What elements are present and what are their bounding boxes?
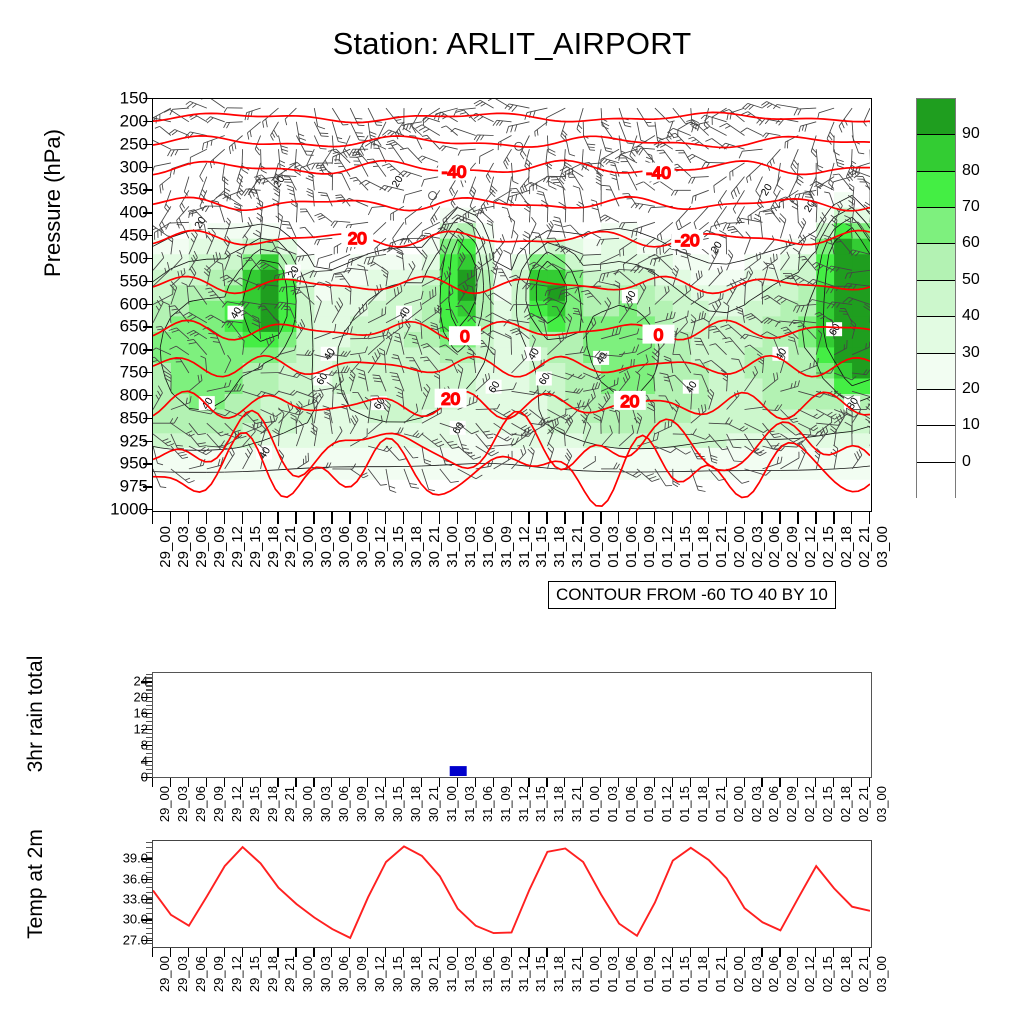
colorbar-label: 50 [962, 271, 980, 289]
rain-xtick-label: 31_21 [569, 786, 584, 822]
rain-xtick-label: 03_00 [874, 786, 889, 822]
rain-xaxis-ticklabels: 29_0029_0329_0629_0929_1229_1529_1829_21… [152, 784, 872, 840]
main-xtick-label: 31_09 [498, 526, 515, 568]
time-height-cross-section-plot[interactable]: 2020202040404040404040606060202060604060… [152, 98, 872, 512]
main-xtick [511, 512, 512, 524]
main-xaxis-ticklabels: 29_0029_0329_0629_0929_1229_1529_1829_21… [152, 524, 872, 584]
temp-xtick-label: 01_03 [605, 956, 620, 992]
rain-xtick-label: 29_00 [157, 786, 172, 822]
rh-colorbar-labels: 9080706050403020100 [962, 98, 1022, 498]
temp-xtick-label: 30_21 [426, 956, 441, 992]
temp-xtick-label: 02_00 [731, 956, 746, 992]
colorbar-segment[interactable] [917, 172, 955, 208]
main-xtick [457, 512, 458, 524]
main-xtick [260, 512, 261, 524]
main-xtick [152, 512, 153, 524]
rain-yaxis-tickmarks [140, 672, 152, 778]
temp-xtick-label: 01_15 [677, 956, 692, 992]
temp-xtick-label: 30_06 [336, 956, 351, 992]
main-ytick [143, 441, 152, 442]
temp-xtick-label: 31_00 [444, 956, 459, 992]
main-xtick-label: 31_03 [462, 526, 479, 568]
contour-note: CONTOUR FROM -60 TO 40 BY 10 [548, 581, 836, 609]
main-xtick [618, 512, 619, 524]
main-xtick [600, 512, 601, 524]
rain-xtick-label: 01_21 [713, 786, 728, 822]
svg-text:20: 20 [348, 229, 367, 248]
rain-xtick-label: 02_18 [838, 786, 853, 822]
colorbar-label: 10 [962, 416, 980, 434]
main-xtick [385, 512, 386, 524]
main-xtick-label: 30_03 [318, 526, 335, 568]
main-xtick-label: 31_12 [516, 526, 533, 568]
rain-xtick-label: 01_12 [659, 786, 674, 822]
colorbar-segment[interactable] [917, 281, 955, 317]
main-xtick [206, 512, 207, 524]
main-xtick-label: 02_18 [838, 526, 855, 568]
colorbar-segment[interactable] [917, 208, 955, 244]
main-xtick-label: 29_12 [229, 526, 246, 568]
rain-xtick-label: 02_03 [749, 786, 764, 822]
temp-ytick [141, 919, 152, 920]
temp-xtick-label: 29_06 [193, 956, 208, 992]
rain-xtick-label: 31_06 [480, 786, 495, 822]
rain-xtick-label: 29_09 [211, 786, 226, 822]
main-xtick-label: 30_06 [336, 526, 353, 568]
main-xtick [277, 512, 278, 524]
main-xtick-label: 29_15 [247, 526, 264, 568]
main-xtick [815, 512, 816, 524]
main-xtick-label: 01_21 [713, 526, 730, 568]
main-xtick-label: 01_03 [605, 526, 622, 568]
main-xtick-label: 02_00 [731, 526, 748, 568]
main-xtick [313, 512, 314, 524]
main-xtick-label: 30_12 [372, 526, 389, 568]
temp-xtick-label: 29_12 [229, 956, 244, 992]
temp-ytick [141, 858, 152, 859]
main-xtick [367, 512, 368, 524]
main-xtick [690, 512, 691, 524]
temp-yaxis-tickmarks [140, 840, 152, 948]
temp-xtick-label: 01_21 [713, 956, 728, 992]
main-ytick [143, 144, 152, 145]
main-xtick-label: 01_12 [659, 526, 676, 568]
rain-xtick-label: 02_21 [856, 786, 871, 822]
colorbar-label: 40 [962, 307, 980, 325]
temp-ytick [141, 940, 152, 941]
temp-xtick-label: 29_15 [247, 956, 262, 992]
colorbar-segment[interactable] [917, 426, 955, 462]
rain-xtick-label: 02_00 [731, 786, 746, 822]
rain-canvas [153, 673, 870, 776]
main-ytick [143, 395, 152, 396]
main-xtick [224, 512, 225, 524]
rh-colorbar[interactable] [916, 98, 956, 498]
main-ytick [143, 258, 152, 259]
colorbar-segment[interactable] [917, 463, 955, 499]
rain-xtick-label: 30_15 [390, 786, 405, 822]
rain-xtick-label: 31_18 [551, 786, 566, 822]
temp-plot[interactable] [152, 840, 872, 948]
main-xtick [851, 512, 852, 524]
main-xtick [170, 512, 171, 524]
colorbar-label: 90 [962, 125, 980, 143]
main-xtick-label: 01_09 [641, 526, 658, 568]
main-xtick-label: 31_15 [533, 526, 550, 568]
temp-xtick-label: 31_06 [480, 956, 495, 992]
main-xtick [636, 512, 637, 524]
temp-xtick-label: 31_21 [569, 956, 584, 992]
rain-xtick-label: 30_03 [318, 786, 333, 822]
main-xtick [546, 512, 547, 524]
main-xtick [654, 512, 655, 524]
temp-xtick-label: 29_18 [265, 956, 280, 992]
main-xtick-label: 01_15 [677, 526, 694, 568]
rain-xtick-label: 01_18 [695, 786, 710, 822]
rain-xtick-label: 01_06 [623, 786, 638, 822]
rain-ytick [141, 761, 152, 762]
rain-ytick [141, 729, 152, 730]
main-ytick [143, 98, 152, 99]
rain-bar [450, 766, 467, 776]
main-xtick [349, 512, 350, 524]
main-xtick [403, 512, 404, 524]
main-xtick-label: 02_09 [784, 526, 801, 568]
temp-xtick-label: 31_03 [462, 956, 477, 992]
main-xtick-label: 30_00 [300, 526, 317, 568]
temp-xtick-label: 01_18 [695, 956, 710, 992]
temp-xtick-label: 03_00 [874, 956, 889, 992]
main-ytick [143, 304, 152, 305]
rain-ytick [141, 713, 152, 714]
main-xtick [833, 512, 834, 524]
rain-ytick [141, 777, 152, 778]
temp-xtick-label: 31_09 [498, 956, 513, 992]
colorbar-label: 60 [962, 234, 980, 252]
main-xtick [869, 512, 870, 524]
rain-xtick-label: 02_09 [784, 786, 799, 822]
main-xtick [779, 512, 780, 524]
rain-xtick-label: 31_12 [516, 786, 531, 822]
main-xtick-label: 30_15 [390, 526, 407, 568]
main-yaxis-ticklabels: 1502002503003504004505005506006507007508… [92, 98, 148, 512]
main-xtick-label: 31_21 [569, 526, 586, 568]
temp-xtick-label: 31_18 [551, 956, 566, 992]
temp-xtick-label: 30_00 [300, 956, 315, 992]
main-ytick [143, 167, 152, 168]
main-xtick-label: 01_18 [695, 526, 712, 568]
main-xtick-label: 02_06 [766, 526, 783, 568]
rain-ytick [141, 697, 152, 698]
main-xtick [761, 512, 762, 524]
rain-xtick-label: 01_09 [641, 786, 656, 822]
main-xtick [672, 512, 673, 524]
main-xtick [708, 512, 709, 524]
main-xtick [493, 512, 494, 524]
temp-xtick-label: 01_09 [641, 956, 656, 992]
main-xtick-label: 03_00 [874, 526, 891, 568]
main-ytick [143, 463, 152, 464]
rain-bars [450, 766, 467, 776]
temp-xtick-label: 30_03 [318, 956, 333, 992]
main-xtick [439, 512, 440, 524]
main-xtick [331, 512, 332, 524]
svg-text:-40: -40 [442, 162, 467, 181]
rain-xtick-label: 30_21 [426, 786, 441, 822]
rain-xtick-label: 01_03 [605, 786, 620, 822]
svg-text:20: 20 [620, 392, 639, 411]
main-xtick-label: 29_21 [282, 526, 299, 568]
main-xtick [421, 512, 422, 524]
temp-ytick [141, 899, 152, 900]
colorbar-segment[interactable] [917, 244, 955, 280]
temp-xtick-label: 30_15 [390, 956, 405, 992]
main-xtick-label: 02_03 [749, 526, 766, 568]
rain-ytick [141, 745, 152, 746]
colorbar-segment[interactable] [917, 99, 955, 135]
temp-xtick-label: 02_03 [749, 956, 764, 992]
temp-xtick-label: 30_09 [354, 956, 369, 992]
rain-xtick-label: 02_12 [802, 786, 817, 822]
main-ytick [143, 121, 152, 122]
main-ytick [143, 509, 152, 510]
main-xtick [744, 512, 745, 524]
main-xtick-label: 29_03 [175, 526, 192, 568]
temp-xtick-label: 31_15 [533, 956, 548, 992]
temp-yaxis-label: Temp at 2m [24, 784, 48, 984]
main-xtick-label: 30_21 [426, 526, 443, 568]
main-ytick [143, 349, 152, 350]
main-xtick-label: 30_18 [408, 526, 425, 568]
rain-xtick-label: 29_21 [282, 786, 297, 822]
rain-xtick-label: 29_06 [193, 786, 208, 822]
colorbar-label: 0 [962, 453, 971, 471]
temp-xtick-label: 30_18 [408, 956, 423, 992]
svg-text:-20: -20 [675, 231, 700, 250]
main-yaxis-tickmarks [142, 98, 152, 512]
main-xtick [528, 512, 529, 524]
temp-xtick-label: 29_21 [282, 956, 297, 992]
main-xtick-label: 29_00 [157, 526, 174, 568]
svg-text:-40: -40 [646, 164, 671, 183]
cross-section-canvas: 2020202040404040404040606060202060604060… [153, 99, 870, 510]
rain-xtick-label: 30_18 [408, 786, 423, 822]
rain-xtick-label: 01_00 [587, 786, 602, 822]
temp-xtick-label: 01_06 [623, 956, 638, 992]
temp-ytick [141, 879, 152, 880]
temp-xtick-label: 29_03 [175, 956, 190, 992]
main-xtick [475, 512, 476, 524]
temp-xtick-label: 29_00 [157, 956, 172, 992]
main-xtick-label: 29_06 [193, 526, 210, 568]
colorbar-label: 20 [962, 380, 980, 398]
rain-xtick-label: 02_15 [820, 786, 835, 822]
main-ytick [143, 189, 152, 190]
rain-xtick-label: 29_15 [247, 786, 262, 822]
main-xtick-label: 01_06 [623, 526, 640, 568]
rain-xtick-label: 30_12 [372, 786, 387, 822]
rain-xtick-label: 30_06 [336, 786, 351, 822]
main-xtick-label: 29_18 [265, 526, 282, 568]
main-xtick-label: 02_15 [820, 526, 837, 568]
main-yaxis-label: Pressure (hPa) [40, 88, 66, 318]
main-ytick [143, 326, 152, 327]
main-ytick [143, 486, 152, 487]
rain-ytick [141, 681, 152, 682]
main-ytick [143, 212, 152, 213]
temp-xtick-label: 02_06 [766, 956, 781, 992]
svg-text:0: 0 [460, 327, 469, 346]
temp-xtick-label: 02_09 [784, 956, 799, 992]
temp-xtick-label: 30_12 [372, 956, 387, 992]
rain-xtick-label: 30_00 [300, 786, 315, 822]
main-xtick-label: 29_09 [211, 526, 228, 568]
svg-text:0: 0 [654, 326, 663, 345]
main-xtick-label: 31_00 [444, 526, 461, 568]
rain-xtick-label: 31_15 [533, 786, 548, 822]
colorbar-label: 70 [962, 198, 980, 216]
main-xtick [242, 512, 243, 524]
main-ytick [143, 235, 152, 236]
temp-xtick-label: 02_12 [802, 956, 817, 992]
temp-xtick-label: 31_12 [516, 956, 531, 992]
colorbar-segment[interactable] [917, 317, 955, 353]
rain-xtick-label: 30_09 [354, 786, 369, 822]
colorbar-label: 80 [962, 162, 980, 180]
main-xtick-label: 31_18 [551, 526, 568, 568]
main-xtick [797, 512, 798, 524]
main-xtick-label: 02_21 [856, 526, 873, 568]
colorbar-segment[interactable] [917, 354, 955, 390]
temp-canvas [153, 841, 870, 946]
rain-xtick-label: 01_15 [677, 786, 692, 822]
main-xtick [726, 512, 727, 524]
main-xtick-label: 31_06 [480, 526, 497, 568]
main-xtick [582, 512, 583, 524]
main-ytick [143, 418, 152, 419]
rain-xtick-label: 29_12 [229, 786, 244, 822]
temp-xtick-label: 02_18 [838, 956, 853, 992]
main-ytick [143, 281, 152, 282]
temp-xtick-label: 01_00 [587, 956, 602, 992]
rain-xtick-label: 02_06 [766, 786, 781, 822]
main-ytick [143, 372, 152, 373]
page-title: Station: ARLIT_AIRPORT [0, 26, 1024, 62]
main-xtick-label: 30_09 [354, 526, 371, 568]
colorbar-segment[interactable] [917, 390, 955, 426]
rain-xtick-label: 29_18 [265, 786, 280, 822]
temp-xtick-label: 02_15 [820, 956, 835, 992]
colorbar-segment[interactable] [917, 135, 955, 171]
main-xtick-label: 02_12 [802, 526, 819, 568]
temp-xtick-label: 02_21 [856, 956, 871, 992]
colorbar-label: 30 [962, 344, 980, 362]
temp-line [153, 846, 870, 938]
main-xtick [188, 512, 189, 524]
temp-xtick-label: 01_12 [659, 956, 674, 992]
rain-xtick-label: 31_00 [444, 786, 459, 822]
main-xtick [564, 512, 565, 524]
rain-plot[interactable] [152, 672, 872, 778]
main-xtick-label: 01_00 [587, 526, 604, 568]
rain-xtick-label: 31_03 [462, 786, 477, 822]
rain-xtick-label: 29_03 [175, 786, 190, 822]
svg-text:20: 20 [441, 390, 460, 409]
temp-xtick-label: 29_09 [211, 956, 226, 992]
temp-xaxis-ticklabels: 29_0029_0329_0629_0929_1229_1529_1829_21… [152, 954, 872, 1010]
rain-xtick-label: 31_09 [498, 786, 513, 822]
main-xtick [295, 512, 296, 524]
